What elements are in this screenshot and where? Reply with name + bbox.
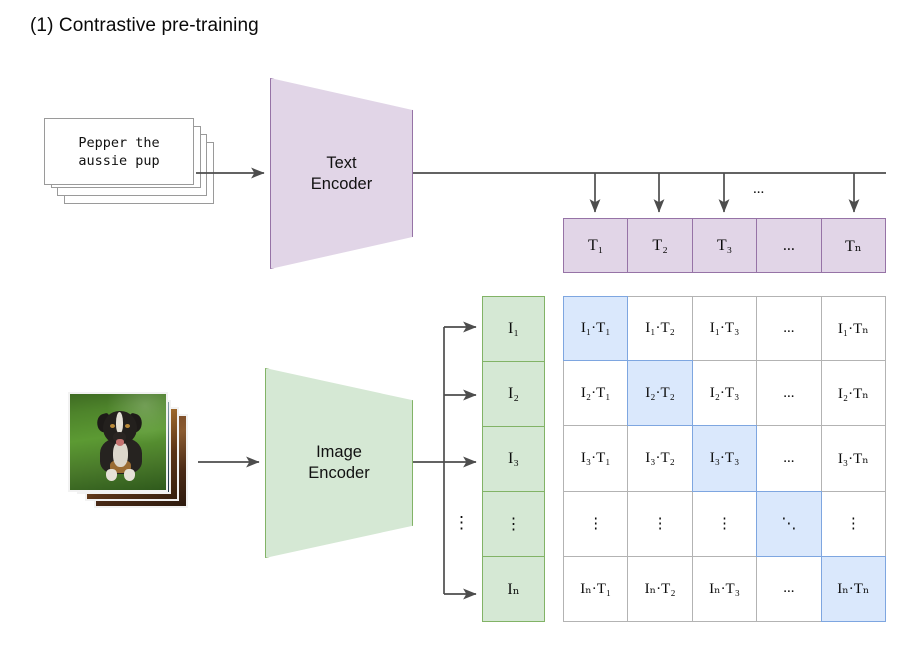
matrix-cell[interactable]: I₂·T₁	[563, 360, 628, 426]
text-caption: Pepper the aussie pup	[78, 134, 159, 170]
matrix-cell[interactable]: I₁·T₃	[692, 296, 757, 361]
text-embedding-row: T₁ T₂ T₃ ... Tₙ	[563, 218, 886, 273]
puppy-tongue	[116, 439, 124, 446]
photo-front-puppy	[68, 392, 168, 492]
matrix-cell[interactable]: ...	[756, 556, 821, 622]
image-branch-ellipsis: ⋮	[453, 514, 470, 531]
wire-image-encoder-trunk	[413, 327, 444, 594]
matrix-row: I₁·T₁ I₁·T₂ I₁·T₃ ... I₁·Tₙ	[563, 296, 886, 361]
matrix-cell[interactable]: I₁·Tₙ	[821, 296, 886, 361]
page-title: (1) Contrastive pre-training	[30, 14, 259, 38]
matrix-cell[interactable]: Iₙ·T₂	[627, 556, 692, 622]
matrix-row: I₂·T₁ I₂·T₂ I₂·T₃ ... I₂·Tₙ	[563, 361, 886, 426]
image-embedding-cell[interactable]: I₁	[482, 296, 545, 362]
wire-text-trunk-drops	[595, 173, 854, 212]
image-embedding-cell[interactable]: I₃	[482, 426, 545, 492]
text-embedding-cell[interactable]: T₃	[692, 218, 757, 273]
matrix-cell[interactable]: I₁·T₂	[627, 296, 692, 361]
image-embedding-column: I₁ I₂ I₃ ⋮ Iₙ	[482, 296, 545, 622]
puppy-blaze	[116, 412, 123, 433]
puppy-paw-right	[124, 469, 135, 481]
text-encoder-block: Text Encoder	[270, 78, 413, 269]
text-embedding-cell[interactable]: ...	[756, 218, 821, 273]
matrix-cell[interactable]: I₃·T₁	[563, 425, 628, 491]
text-input-stack: Pepper the aussie pup	[44, 118, 234, 228]
puppy-eye-right	[125, 424, 130, 428]
matrix-cell[interactable]: I₂·T₂	[627, 360, 692, 426]
text-card-front: Pepper the aussie pup	[44, 118, 194, 185]
matrix-cell[interactable]: ⋮	[563, 491, 628, 557]
text-branch-ellipsis: ...	[753, 181, 764, 198]
puppy-eye-left	[110, 424, 115, 428]
matrix-cell[interactable]: ...	[756, 425, 821, 491]
matrix-cell[interactable]: ⋮	[627, 491, 692, 557]
text-embedding-cell[interactable]: Tₙ	[821, 218, 886, 273]
matrix-cell[interactable]: ⋮	[821, 491, 886, 557]
image-embedding-cell[interactable]: I₂	[482, 361, 545, 427]
matrix-cell[interactable]: I₃·T₂	[627, 425, 692, 491]
matrix-cell[interactable]: ⋱	[756, 491, 821, 557]
matrix-cell[interactable]: ...	[756, 296, 821, 361]
image-encoder-block: Image Encoder	[265, 368, 413, 558]
matrix-row: Iₙ·T₁ Iₙ·T₂ Iₙ·T₃ ... Iₙ·Tₙ	[563, 557, 886, 622]
matrix-cell[interactable]: I₃·Tₙ	[821, 425, 886, 491]
text-embedding-cell[interactable]: T₁	[563, 218, 628, 273]
puppy-paw-left	[106, 469, 117, 481]
image-embedding-cell[interactable]: Iₙ	[482, 556, 545, 622]
image-embedding-cell[interactable]: ⋮	[482, 491, 545, 557]
image-encoder-label: Image Encoder	[308, 442, 369, 484]
matrix-row: ⋮ ⋮ ⋮ ⋱ ⋮	[563, 492, 886, 557]
matrix-cell[interactable]: Iₙ·T₁	[563, 556, 628, 622]
diagram-canvas: (1) Contrastive pre-training Pepper the …	[0, 0, 906, 654]
matrix-cell[interactable]: Iₙ·T₃	[692, 556, 757, 622]
matrix-cell[interactable]: I₂·Tₙ	[821, 360, 886, 426]
text-encoder-label: Text Encoder	[311, 153, 372, 195]
wire-image-trunk-branches	[444, 327, 476, 594]
matrix-cell[interactable]: Iₙ·Tₙ	[821, 556, 886, 622]
matrix-cell[interactable]: I₁·T₁	[563, 296, 628, 361]
matrix-row: I₃·T₁ I₃·T₂ I₃·T₃ ... I₃·Tₙ	[563, 426, 886, 491]
text-embedding-cell[interactable]: T₂	[627, 218, 692, 273]
matrix-cell[interactable]: ⋮	[692, 491, 757, 557]
matrix-cell[interactable]: ...	[756, 360, 821, 426]
similarity-matrix: I₁·T₁ I₁·T₂ I₁·T₃ ... I₁·Tₙ I₂·T₁ I₂·T₂ …	[563, 296, 886, 622]
image-input-stack	[68, 392, 198, 512]
matrix-cell[interactable]: I₃·T₃	[692, 425, 757, 491]
matrix-cell[interactable]: I₂·T₃	[692, 360, 757, 426]
